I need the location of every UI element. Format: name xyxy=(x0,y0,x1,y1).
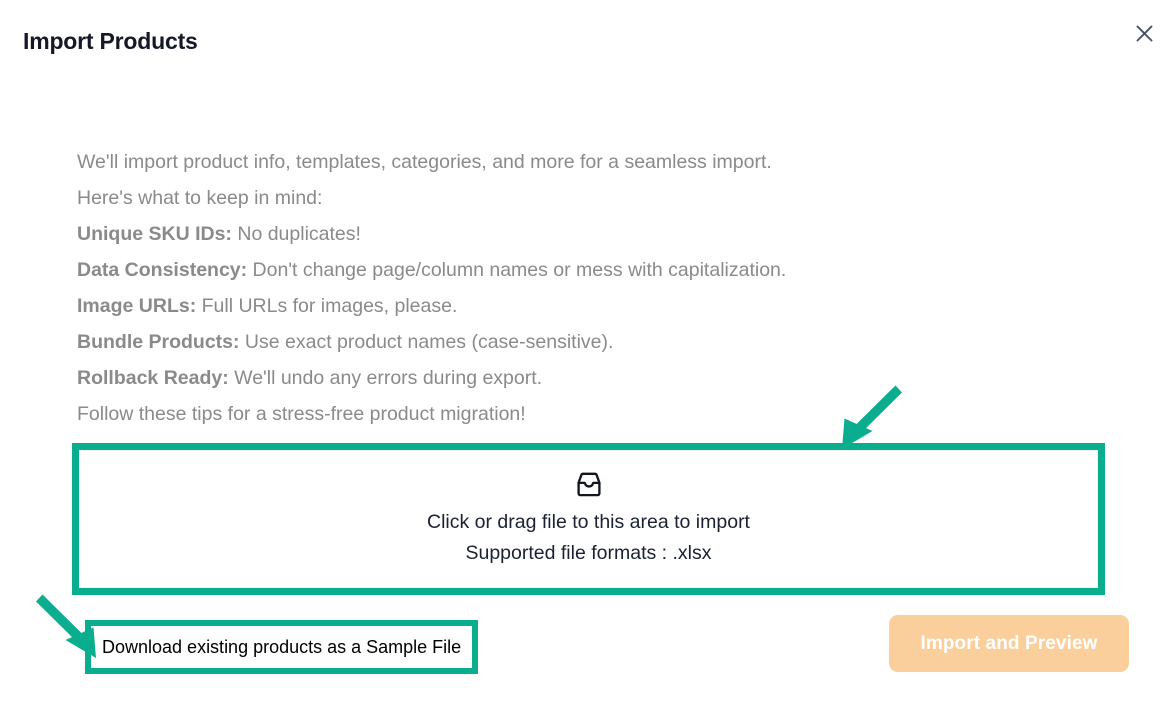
download-sample-file-link[interactable]: Download existing products as a Sample F… xyxy=(102,637,461,658)
instruction-line: We'll import product info, templates, ca… xyxy=(77,144,1057,180)
dropzone-highlight-frame: Click or drag file to this area to impor… xyxy=(72,443,1105,595)
instruction-text: Here's what to keep in mind: xyxy=(77,187,322,209)
instruction-lead: Data Consistency: xyxy=(77,259,247,281)
instruction-text: We'll import product info, templates, ca… xyxy=(77,151,772,173)
import-instructions: We'll import product info, templates, ca… xyxy=(77,144,1057,432)
instruction-lead: Bundle Products: xyxy=(77,331,240,353)
dropzone-primary-text: Click or drag file to this area to impor… xyxy=(427,507,750,538)
instruction-text: Full URLs for images, please. xyxy=(196,295,457,317)
close-icon xyxy=(1136,25,1153,42)
instruction-line: Data Consistency: Don't change page/colu… xyxy=(77,252,1057,288)
instruction-lead: Image URLs: xyxy=(77,295,196,317)
page-title: Import Products xyxy=(23,28,198,55)
instruction-text: No duplicates! xyxy=(232,223,361,245)
instruction-text: Use exact product names (case-sensitive)… xyxy=(240,331,614,353)
instruction-text: Don't change page/column names or mess w… xyxy=(247,259,786,281)
close-button[interactable] xyxy=(1129,18,1159,48)
instruction-line: Unique SKU IDs: No duplicates! xyxy=(77,216,1057,252)
instruction-text: We'll undo any errors during export. xyxy=(229,367,542,389)
instruction-lead: Rollback Ready: xyxy=(77,367,229,389)
sample-link-wrapper: Download existing products as a Sample F… xyxy=(91,626,472,668)
dropzone-secondary-text: Supported file formats : .xlsx xyxy=(465,538,711,569)
instruction-lead: Unique SKU IDs: xyxy=(77,223,232,245)
file-upload-dropzone[interactable]: Click or drag file to this area to impor… xyxy=(79,450,1098,588)
instruction-line: Rollback Ready: We'll undo any errors du… xyxy=(77,360,1057,396)
import-products-dialog: Import Products We'll import product inf… xyxy=(0,0,1169,715)
instruction-line: Image URLs: Full URLs for images, please… xyxy=(77,288,1057,324)
dialog-header: Import Products xyxy=(0,0,1169,86)
sample-link-highlight-frame: Download existing products as a Sample F… xyxy=(85,620,478,674)
instruction-line: Bundle Products: Use exact product names… xyxy=(77,324,1057,360)
instruction-line: Follow these tips for a stress-free prod… xyxy=(77,396,1057,432)
import-and-preview-button[interactable]: Import and Preview xyxy=(889,615,1129,672)
instruction-line: Here's what to keep in mind: xyxy=(77,180,1057,216)
inbox-icon xyxy=(573,469,605,501)
instruction-text: Follow these tips for a stress-free prod… xyxy=(77,403,526,425)
